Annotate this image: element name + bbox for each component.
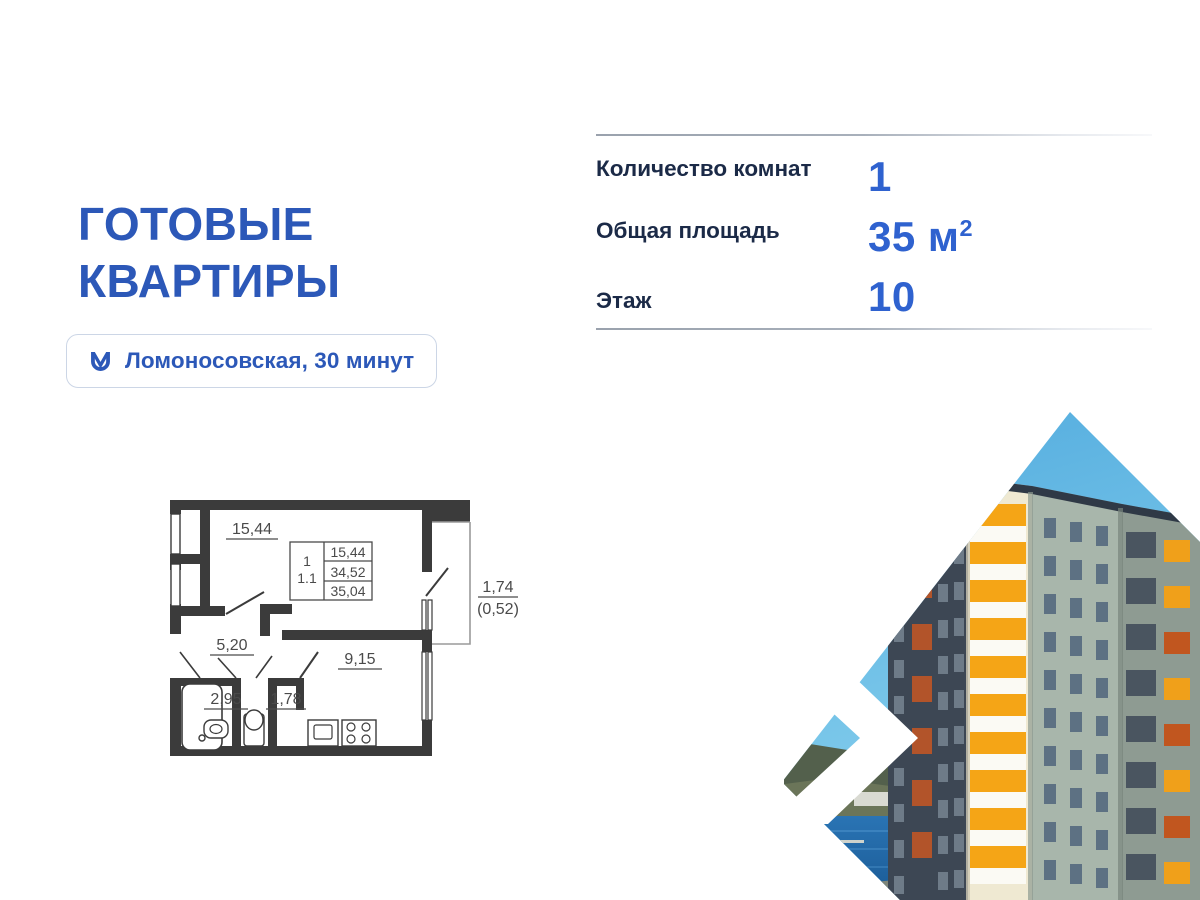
label-hall-area: 5,20 <box>216 637 247 654</box>
floor-plan[interactable]: 15,44 5,20 9,15 2,95 1,78 1,74 (0,52) <box>160 492 530 782</box>
label-living-area: 15,44 <box>232 521 272 538</box>
page-title: ГОТОВЫЕ КВАРТИРЫ <box>78 196 548 310</box>
building-photo-collage[interactable] <box>770 400 1200 900</box>
info-label-floor: Этаж <box>596 276 868 316</box>
page-title-line-2: КВАРТИРЫ <box>78 253 548 310</box>
building-photo-graphic <box>770 400 1200 900</box>
label-kitchen-area: 9,15 <box>344 651 375 668</box>
info-row-floor: Этаж 10 <box>596 276 1152 318</box>
info-value-area-superscript: 2 <box>959 215 973 241</box>
plan-balcony <box>432 522 470 644</box>
info-panel-rows: Количество комнат 1 Общая площадь 35 м2 … <box>596 136 1152 328</box>
chevron-edge <box>778 652 784 824</box>
label-bathroom-area: 2,95 <box>210 691 241 708</box>
info-value-rooms: 1 <box>868 154 892 198</box>
metro-logo-icon <box>87 348 114 375</box>
plan-balcony-label: 1,74 (0,52) <box>477 579 519 618</box>
page-title-line-1: ГОТОВЫЕ <box>78 196 548 253</box>
label-balcony-length: 1,74 <box>482 579 513 596</box>
info-value-area: 35 м2 <box>868 216 973 258</box>
label-balcony-area: (0,52) <box>477 601 519 618</box>
table-area-without-balcony: 34,52 <box>330 564 365 580</box>
plan-area-table: 1 1.1 15,44 34,52 35,04 <box>290 542 372 600</box>
metro-station-label: Ломоносовская, 30 минут <box>125 348 414 374</box>
metro-station-badge[interactable]: Ломоносовская, 30 минут <box>66 334 437 388</box>
photo-building <box>888 478 1200 900</box>
left-column: ГОТОВЫЕ КВАРТИРЫ Ломоносовская, 30 минут <box>0 0 580 900</box>
info-label-area: Общая площадь <box>596 216 868 246</box>
table-living-area: 15,44 <box>330 544 365 560</box>
table-apartment-number: 1 <box>303 553 311 569</box>
info-panel-bottom-divider <box>596 328 1152 330</box>
label-wc-area: 1,78 <box>270 691 301 708</box>
table-apartment-index: 1.1 <box>297 570 317 586</box>
facade-right-wing <box>1122 504 1200 900</box>
floor-plan-drawing: 15,44 5,20 9,15 2,95 1,78 1,74 (0,52) <box>160 492 530 782</box>
collage-diamond-mask <box>770 400 1200 900</box>
info-row-rooms: Количество комнат 1 <box>596 154 1152 198</box>
info-value-floor: 10 <box>868 276 916 318</box>
apartment-info-panel: Количество комнат 1 Общая площадь 35 м2 … <box>596 134 1152 330</box>
info-label-rooms: Количество комнат <box>596 154 868 184</box>
info-value-area-number: 35 м <box>868 213 959 260</box>
table-area-with-balcony: 35,04 <box>330 583 365 599</box>
info-row-area: Общая площадь 35 м2 <box>596 216 1152 258</box>
